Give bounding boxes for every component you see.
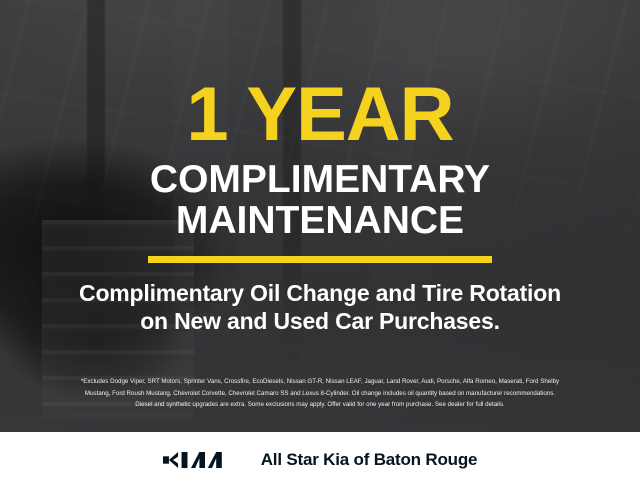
disclaimer-line-3: Diesel and synthetic upgrades are extra.…: [14, 399, 626, 411]
kia-logo-icon: [163, 449, 247, 471]
offer-line-2: on New and Used Car Purchases.: [140, 307, 500, 335]
headline-year: 1 YEAR: [186, 80, 453, 150]
hero-content: 1 YEAR COMPLIMENTARY MAINTENANCE Complim…: [0, 0, 640, 432]
disclaimer-line-1: *Excludes Dodge Viper, SRT Motors, Sprin…: [14, 376, 626, 388]
headline-maintenance: MAINTENANCE: [176, 201, 464, 240]
offer-line-1: Complimentary Oil Change and Tire Rotati…: [79, 279, 561, 307]
yellow-divider: [148, 256, 492, 263]
hero-section: 1 YEAR COMPLIMENTARY MAINTENANCE Complim…: [0, 0, 640, 432]
disclaimer-line-2: Mustang, Ford Roush Mustang, Chevrolet C…: [14, 388, 626, 400]
dealer-name: All Star Kia of Baton Rouge: [261, 450, 478, 470]
dealer-footer: All Star Kia of Baton Rouge: [0, 432, 640, 488]
disclaimer-text: *Excludes Dodge Viper, SRT Motors, Sprin…: [0, 376, 640, 411]
headline-complimentary: COMPLIMENTARY: [150, 160, 490, 199]
promotional-banner: 1 YEAR COMPLIMENTARY MAINTENANCE Complim…: [0, 0, 640, 488]
